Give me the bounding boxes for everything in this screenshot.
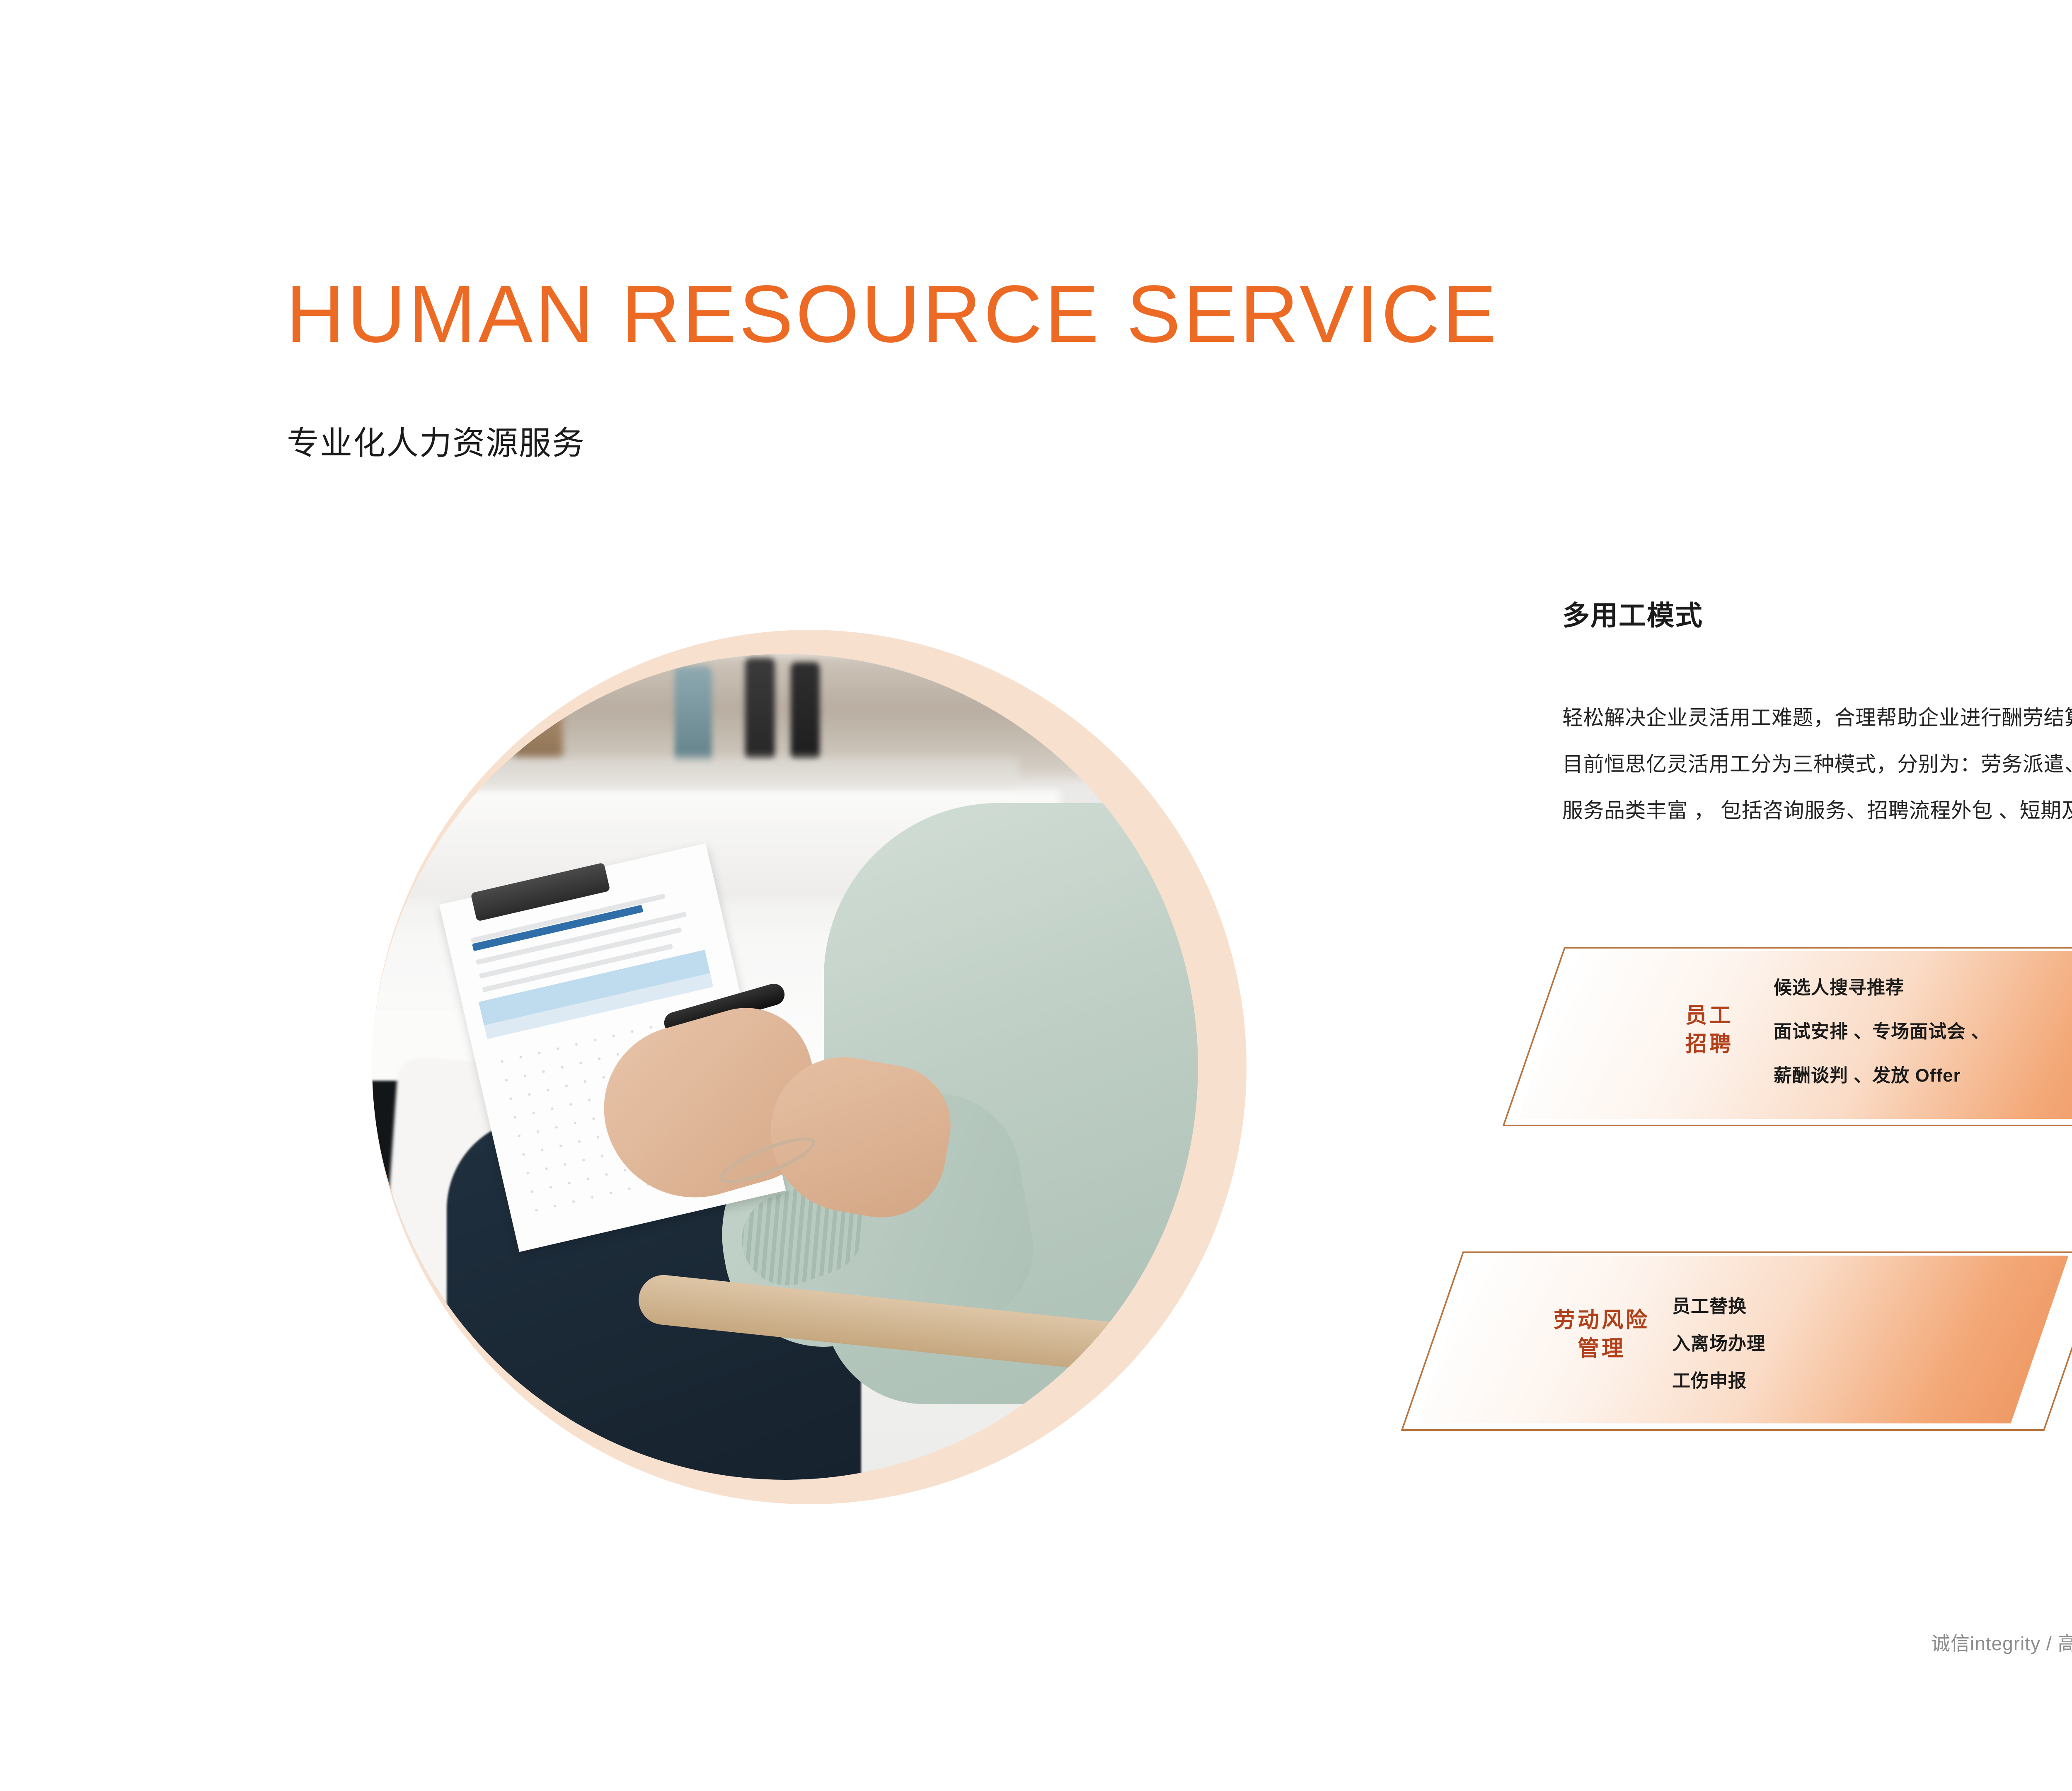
- card-item: 面试安排 、专场面试会 、: [1774, 1017, 1990, 1043]
- card-item: 员工替换: [1672, 1291, 1765, 1318]
- service-card-employee-recruitment[interactable]: 员工 招聘 候选人搜寻推荐 面试安排 、专场面试会 、 薪酬谈判 、发放 Off…: [1533, 947, 2072, 1123]
- card-title: 员工 招聘: [1641, 1002, 1778, 1058]
- card-item: 薪酬谈判 、发放 Offer: [1774, 1060, 1990, 1087]
- photo-circle-image: [372, 654, 1198, 1480]
- hero-photo: [372, 630, 1255, 1504]
- card-item: 入离场办理: [1672, 1329, 1765, 1355]
- section-paragraphs: 轻松解决企业灵活用工难题，合理帮助企业进行酬劳结算 。 目前恒思亿灵活用工分为三…: [1562, 700, 2072, 840]
- photo-illustration: [372, 654, 1198, 1480]
- card-item: 候选人搜寻推荐: [1774, 973, 1990, 999]
- paragraph-line: 轻松解决企业灵活用工难题，合理帮助企业进行酬劳结算 。: [1562, 700, 2072, 735]
- slide-root: HUMAN RESOURCE SERVICE 专业化人力资源服务: [0, 0, 2072, 1791]
- card-item: 工伤申报: [1672, 1366, 1765, 1392]
- section-title: 多用工模式: [1562, 593, 1703, 633]
- footer-slogan: 诚信integrity / 高效 Effcient/ 服务 service / …: [1931, 1629, 2072, 1656]
- service-card-labor-risk-management[interactable]: 劳动风险 管理 员工替换 入离场办理 工伤申报: [1432, 1251, 2072, 1428]
- paragraph-line: 目前恒思亿灵活用工分为三种模式，分别为：劳务派遣、劳务外包和短期项目外包。: [1562, 747, 2072, 782]
- card-title: 劳动风险 管理: [1523, 1306, 1680, 1363]
- card-item-list: 员工替换 入离场办理 工伤申报: [1672, 1291, 1765, 1392]
- card-item-list: 候选人搜寻推荐 面试安排 、专场面试会 、 薪酬谈判 、发放 Offer: [1774, 973, 1990, 1087]
- page-subtitle-chinese: 专业化人力资源服务: [287, 427, 585, 459]
- paragraph-line: 服务品类丰富 ， 包括咨询服务、招聘流程外包 、短期及合同雇员招聘和管理等。: [1562, 793, 2072, 828]
- page-title-english: HUMAN RESOURCE SERVICE: [286, 273, 1499, 355]
